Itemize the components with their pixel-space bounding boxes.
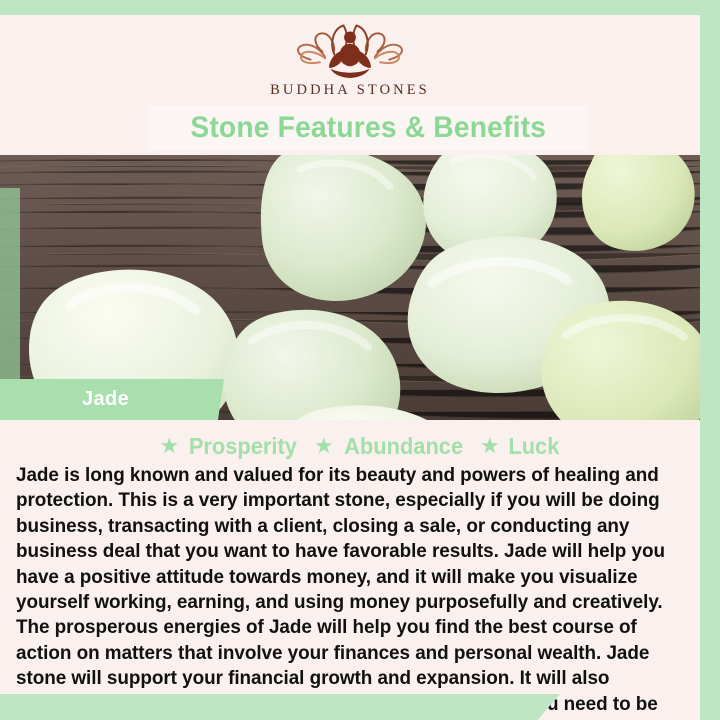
brand-header: BUDDHA STONES bbox=[0, 15, 700, 107]
star-icon: ★ bbox=[480, 435, 500, 457]
right-green-frame-band bbox=[700, 0, 720, 720]
lotus-meditation-icon bbox=[291, 19, 409, 81]
stone-name-label: Jade bbox=[82, 388, 129, 411]
page-title: Stone Features & Benefits bbox=[190, 111, 546, 145]
description-text: Jade is long known and valued for its be… bbox=[16, 463, 682, 720]
benefit-label: Luck bbox=[508, 433, 559, 460]
poster-root: BUDDHA STONES Stone Features & Benefits bbox=[0, 0, 720, 720]
section-title-band: Stone Features & Benefits bbox=[148, 106, 588, 150]
benefit-item-luck: ★ Luck bbox=[480, 433, 560, 460]
benefit-label: Abundance bbox=[344, 433, 463, 460]
benefit-item-abundance: ★ Abundance bbox=[314, 433, 466, 460]
benefit-label: Prosperity bbox=[189, 433, 297, 460]
top-green-frame-band bbox=[0, 0, 720, 15]
bottom-left-green-wedge bbox=[0, 694, 560, 720]
brand-name: BUDDHA STONES bbox=[270, 82, 430, 99]
description-block: Jade is long known and valued for its be… bbox=[16, 463, 706, 720]
stone-name-banner: Jade bbox=[0, 379, 224, 420]
benefit-item-prosperity: ★ Prosperity bbox=[160, 433, 301, 460]
star-icon: ★ bbox=[160, 435, 180, 457]
benefits-row: ★ Prosperity ★ Abundance ★ Luck bbox=[0, 430, 720, 462]
star-icon: ★ bbox=[314, 435, 334, 457]
